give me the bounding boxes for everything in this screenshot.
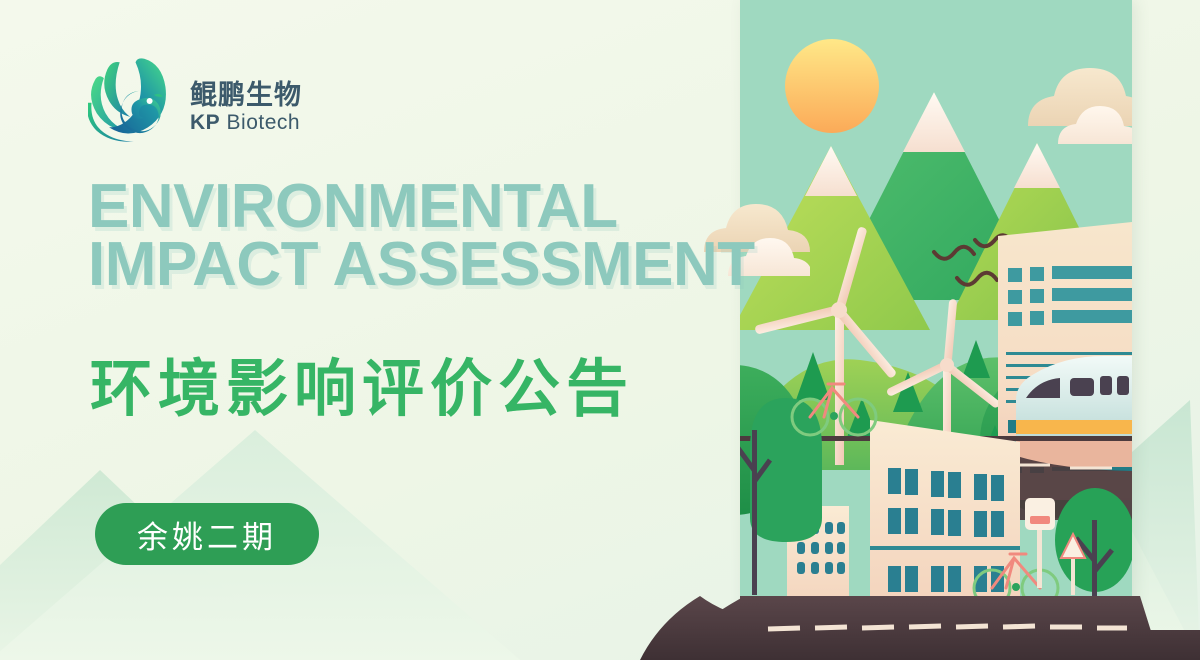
page-subtitle: 环境影响评价公告 [90, 358, 634, 420]
brand-lockup[interactable]: 鲲鹏生物 KP Biotech [88, 55, 302, 147]
cloud-icon [1028, 68, 1132, 144]
sun-icon [785, 39, 879, 133]
brand-text: 鲲鹏生物 KP Biotech [190, 70, 302, 133]
brand-name-cn: 鲲鹏生物 [190, 82, 302, 109]
page-title-line2: IMPACT ASSESSMENT [88, 236, 848, 294]
phoenix-logo-icon [88, 55, 176, 147]
brand-name-en: KP Biotech [190, 112, 302, 133]
eco-city-illustration [740, 0, 1132, 625]
brand-name-en-bold: KP [190, 111, 220, 134]
poster-content: 鲲鹏生物 KP Biotech ENVIRONMENTAL IMPACT ASS… [0, 0, 740, 660]
status-badge[interactable]: 余姚二期 [95, 503, 319, 565]
poster-canvas: 鲲鹏生物 KP Biotech ENVIRONMENTAL IMPACT ASS… [0, 0, 1200, 660]
page-title: ENVIRONMENTAL IMPACT ASSESSMENT [88, 178, 848, 294]
brand-name-en-rest: Biotech [227, 111, 301, 134]
